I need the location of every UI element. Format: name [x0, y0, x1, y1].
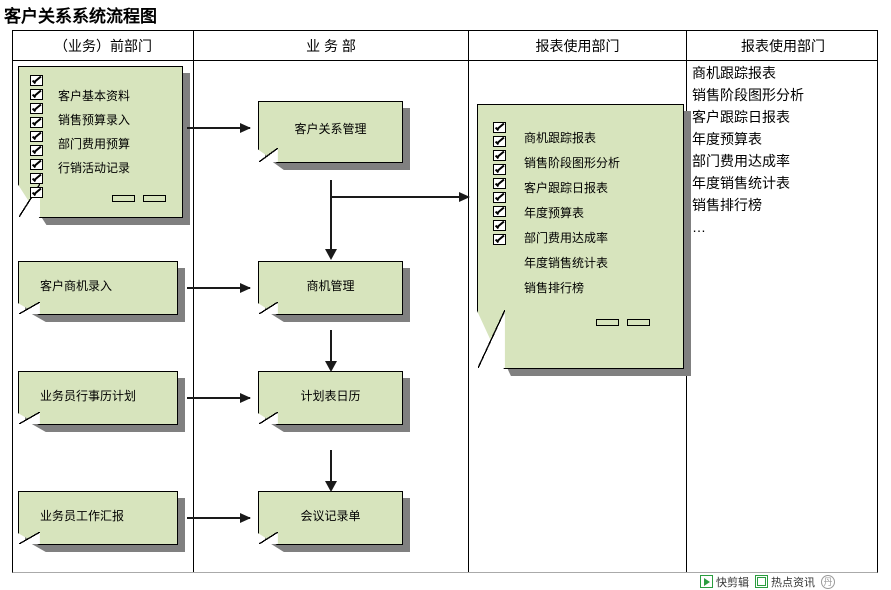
arrow-crm-to-reports	[331, 196, 469, 198]
doc-customer-opportunity-entry[interactable]: 客户商机录入	[18, 261, 178, 315]
report-line-3: 客户跟踪日报表	[524, 178, 608, 199]
doc-fold-corner	[259, 532, 278, 544]
column-divider-1	[193, 31, 194, 572]
column-header-1: （业务）前部门	[13, 35, 193, 57]
checkbox-column-report	[493, 122, 506, 248]
checkbox-icon[interactable]	[493, 206, 506, 217]
report-line-4: 年度预算表	[524, 203, 584, 224]
checkbox-icon[interactable]	[493, 122, 506, 133]
doc-fold-corner	[259, 148, 278, 162]
doc-label: 会议记录单	[258, 507, 403, 524]
doc-fold-corner	[19, 302, 40, 314]
report-line-7: 销售排行榜	[524, 278, 584, 299]
column-divider-2	[468, 31, 469, 572]
taskbar: 快剪辑 热点资讯 丹	[700, 573, 835, 590]
doc-customer-data[interactable]: 客户基本资料 销售预算录入 部门费用预算 行销活动记录	[18, 66, 183, 218]
report-list-item: 年度预算表	[692, 128, 872, 150]
doc-label: 客户关系管理	[258, 120, 403, 137]
report-list-item: 年度销售统计表	[692, 172, 872, 194]
arrow-left-to-calendar	[187, 397, 250, 399]
page-title: 客户关系系统流程图	[4, 2, 157, 27]
report-list-item: 销售阶段图形分析	[692, 84, 872, 106]
doc-mini-button-2	[143, 195, 166, 202]
doc-label: 客户商机录入	[18, 277, 178, 294]
checkbox-icon[interactable]	[493, 220, 506, 231]
arrow-left-to-crm	[187, 127, 250, 129]
checkbox-icon[interactable]	[30, 187, 43, 198]
report-list-item: 商机跟踪报表	[692, 62, 872, 84]
report-line-1: 商机跟踪报表	[524, 128, 596, 149]
checkbox-icon[interactable]	[30, 145, 43, 156]
taskbar-item-quick-edit[interactable]: 快剪辑	[700, 574, 749, 590]
arrow-crm-to-opportunity	[330, 180, 332, 250]
report-list-item: 销售排行榜	[692, 194, 872, 216]
report-line-2: 销售阶段图形分析	[524, 153, 620, 174]
doc-opportunity-management[interactable]: 商机管理	[258, 261, 403, 315]
play-icon	[700, 575, 713, 588]
column-header-2: 业 务 部	[194, 35, 468, 57]
doc-fold-corner	[19, 412, 40, 424]
arrow-calendar-to-meeting	[330, 450, 332, 482]
column-header-3: 报表使用部门	[469, 35, 686, 57]
report-mini-button-2	[627, 319, 650, 326]
report-list-item: …	[692, 216, 872, 238]
doc-label: 计划表日历	[258, 387, 403, 404]
checkbox-icon[interactable]	[493, 164, 506, 175]
flowchart-page: 客户关系系统流程图 （业务）前部门 业 务 部 报表使用部门 报表使用部门 客户…	[0, 0, 891, 590]
header-divider	[13, 60, 877, 61]
news-icon	[755, 575, 768, 588]
checkbox-icon[interactable]	[493, 178, 506, 189]
report-line-5: 部门费用达成率	[524, 228, 608, 249]
circle-badge-icon[interactable]: 丹	[821, 575, 835, 589]
doc-label: 业务员工作汇报	[18, 507, 178, 524]
checkbox-icon[interactable]	[30, 89, 43, 100]
checkbox-icon[interactable]	[30, 103, 43, 114]
checkbox-icon[interactable]	[493, 150, 506, 161]
doc-fold-corner	[19, 532, 40, 544]
report-mini-buttons	[596, 319, 650, 326]
doc-salesperson-work-report[interactable]: 业务员工作汇报	[18, 491, 178, 545]
checkbox-icon[interactable]	[493, 234, 506, 245]
doc-label: 业务员行事历计划	[18, 387, 178, 404]
taskbar-item-label: 快剪辑	[716, 574, 749, 590]
taskbar-item-label: 热点资讯	[771, 574, 815, 590]
checkbox-icon[interactable]	[30, 173, 43, 184]
report-name-list: 商机跟踪报表 销售阶段图形分析 客户跟踪日报表 年度预算表 部门费用达成率 年度…	[692, 62, 872, 238]
doc-reports[interactable]: 商机跟踪报表 销售阶段图形分析 客户跟踪日报表 年度预算表 部门费用达成率 年度…	[477, 104, 684, 369]
doc-label: 商机管理	[258, 277, 403, 294]
doc-meeting-record[interactable]: 会议记录单	[258, 491, 403, 545]
doc-line-1: 客户基本资料	[58, 86, 130, 107]
arrow-left-to-opportunity	[187, 287, 250, 289]
doc-fold-corner	[478, 310, 505, 368]
doc-mini-buttons	[112, 195, 166, 202]
column-header-4: 报表使用部门	[687, 35, 879, 57]
checkbox-icon[interactable]	[493, 136, 506, 147]
arrow-opportunity-to-calendar	[330, 330, 332, 362]
doc-salesperson-calendar-plan[interactable]: 业务员行事历计划	[18, 371, 178, 425]
checkbox-icon[interactable]	[30, 75, 43, 86]
report-mini-button-1	[596, 319, 619, 326]
doc-line-2: 销售预算录入	[58, 110, 130, 131]
report-list-item: 客户跟踪日报表	[692, 106, 872, 128]
arrow-left-to-meeting	[187, 517, 250, 519]
doc-customer-relationship-management[interactable]: 客户关系管理	[258, 101, 403, 163]
checkbox-column-left	[30, 75, 43, 201]
doc-fold-corner	[259, 412, 278, 424]
doc-plan-calendar[interactable]: 计划表日历	[258, 371, 403, 425]
doc-line-4: 行销活动记录	[58, 158, 130, 179]
taskbar-item-news[interactable]: 热点资讯	[755, 574, 815, 590]
checkbox-icon[interactable]	[30, 159, 43, 170]
doc-fold-corner	[259, 302, 278, 314]
doc-mini-button-1	[112, 195, 135, 202]
checkbox-icon[interactable]	[30, 117, 43, 128]
report-line-6: 年度销售统计表	[524, 253, 608, 274]
report-list-item: 部门费用达成率	[692, 150, 872, 172]
checkbox-icon[interactable]	[30, 131, 43, 142]
checkbox-icon[interactable]	[493, 192, 506, 203]
doc-line-3: 部门费用预算	[58, 134, 130, 155]
